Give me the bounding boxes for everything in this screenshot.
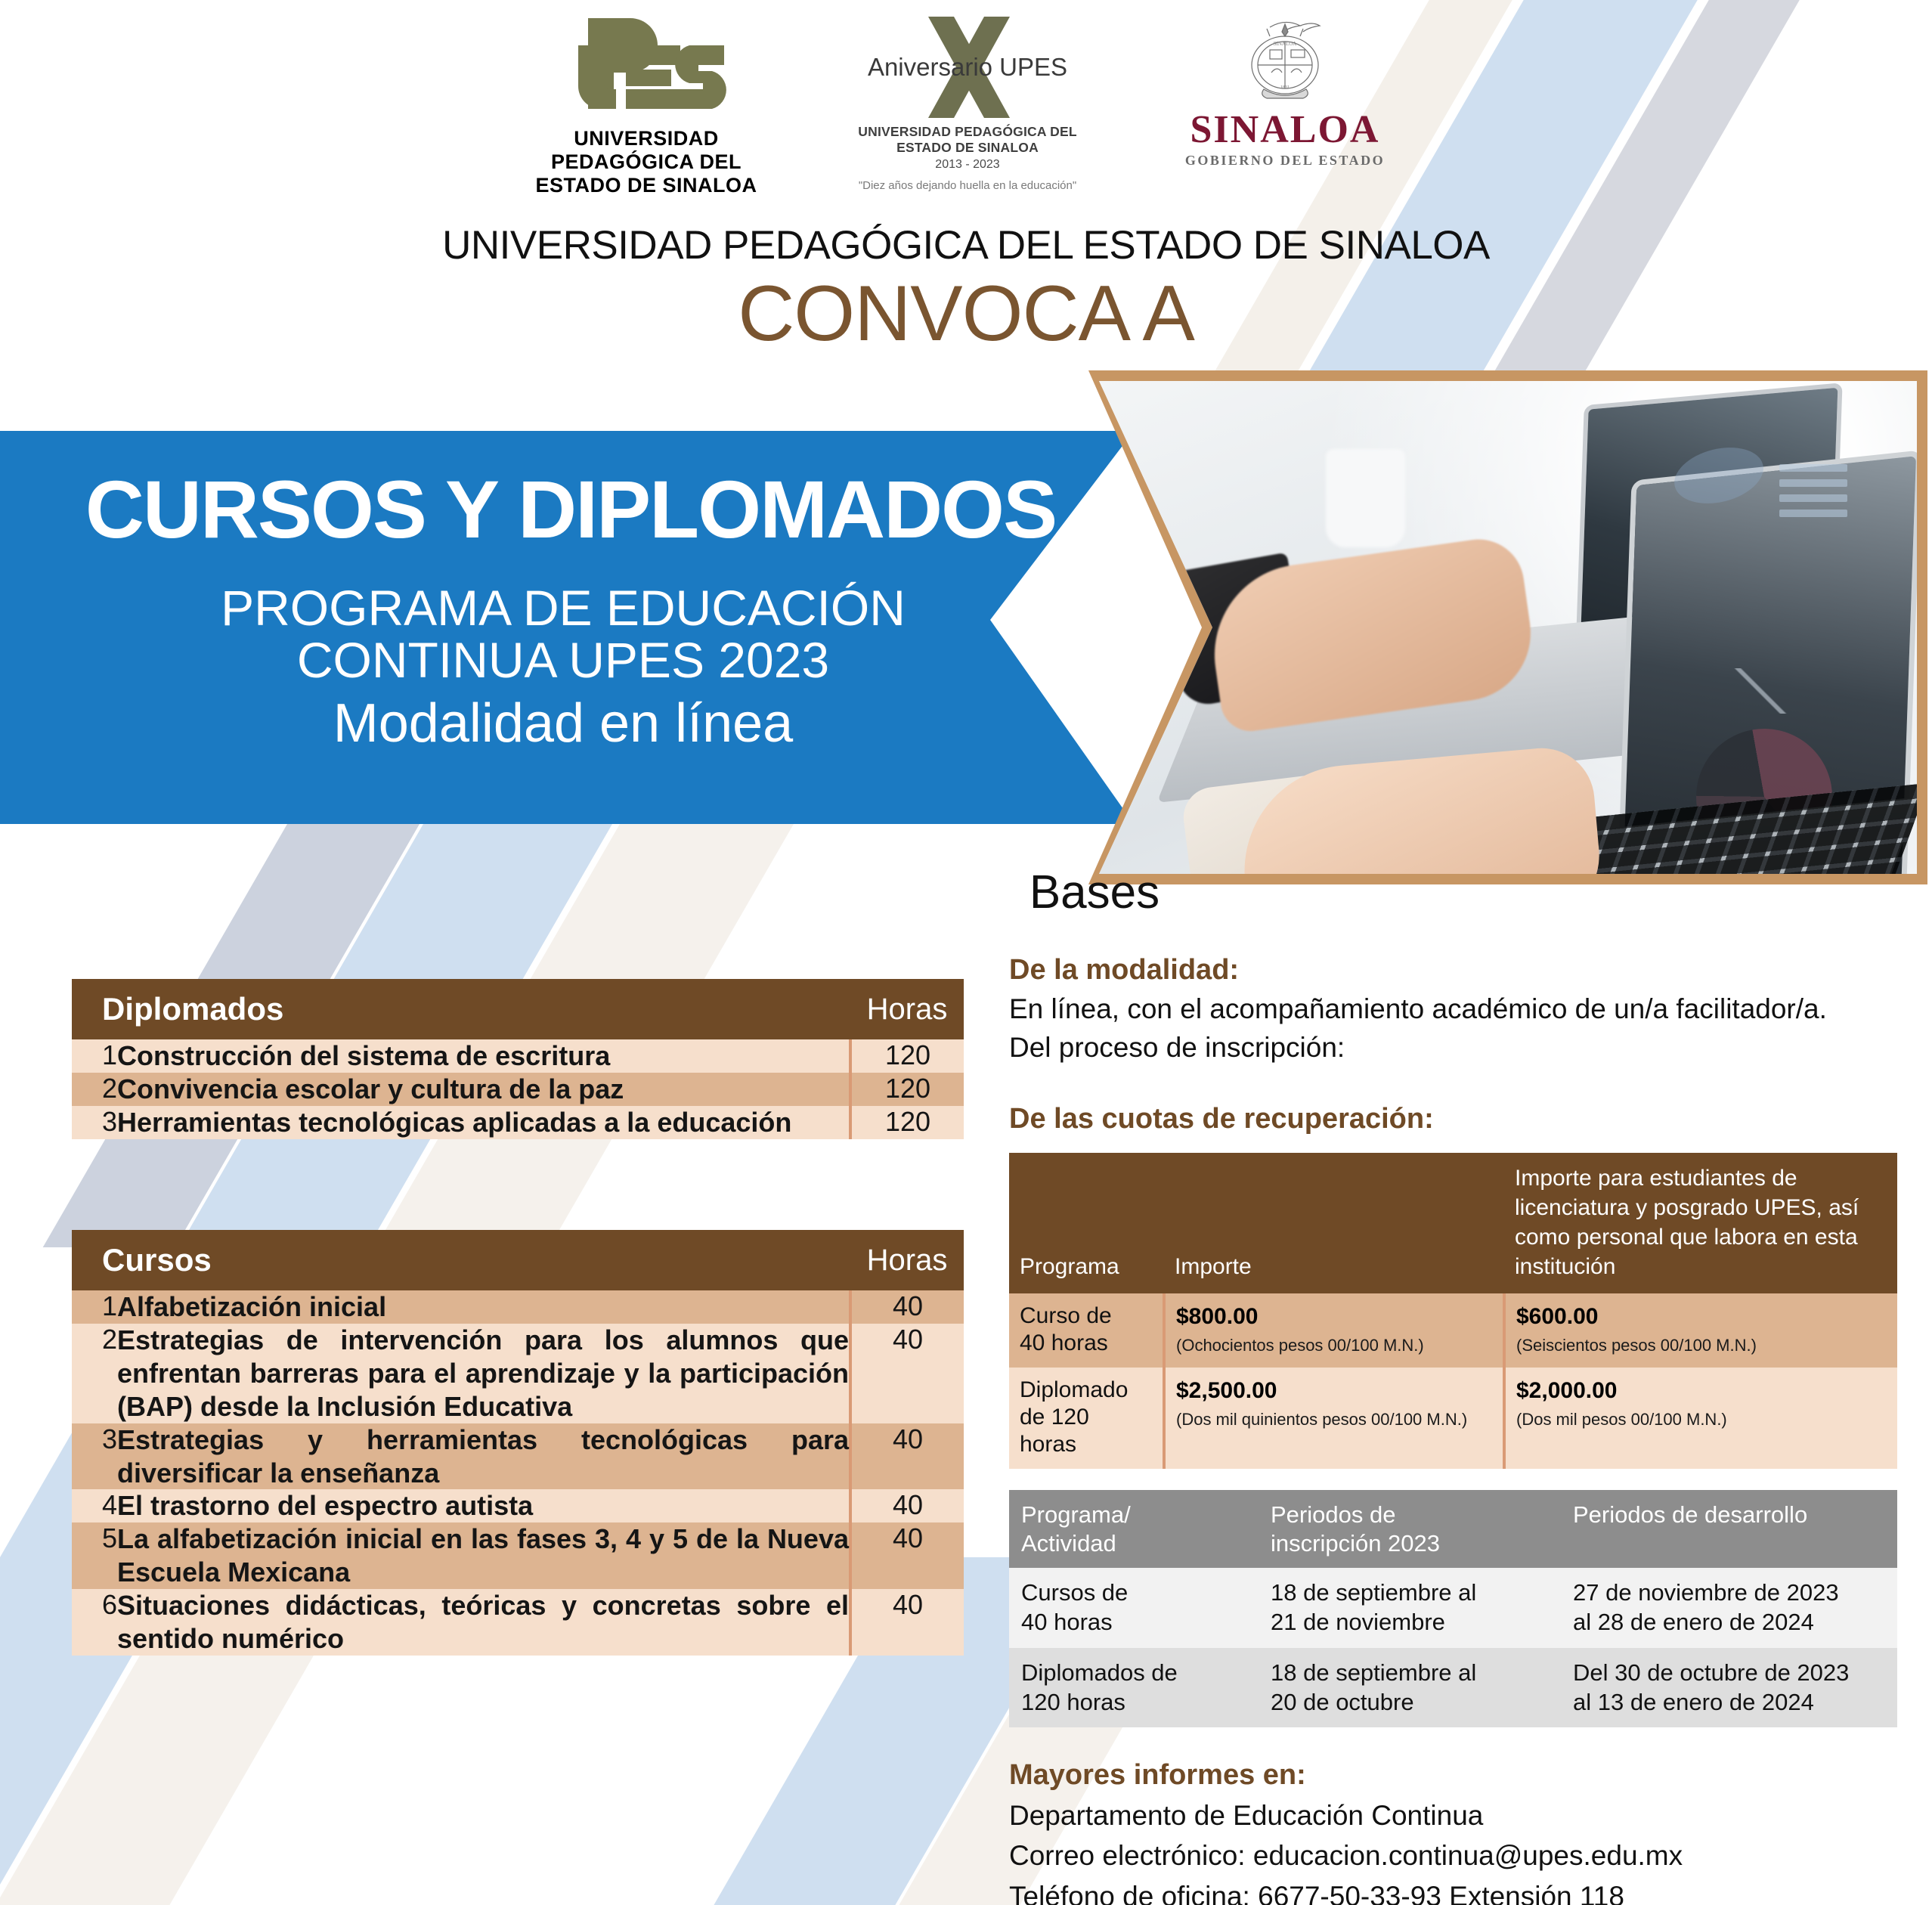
table-row: Curso de 40 horas $800.00 (Ochocientos p… <box>1009 1293 1897 1368</box>
row-hours: 40 <box>850 1324 964 1423</box>
fees-program-l2: de 120 horas <box>1020 1404 1152 1458</box>
bases-label: Bases <box>772 866 1160 918</box>
periods-col-inscripcion: Periodos de inscripción 2023 <box>1259 1490 1561 1569</box>
banner-modality: Modalidad en línea <box>136 695 990 753</box>
periods-development-l1: 27 de noviembre de 2023 <box>1573 1578 1885 1608</box>
fees-amount-upes-cell: $600.00 (Seiscientos pesos 00/100 M.N.) <box>1504 1293 1897 1368</box>
photo-cup <box>1326 449 1405 547</box>
laptop-photo <box>1099 381 1917 874</box>
anniversary-logo: Aniversario UPES UNIVERSIDAD PEDAGÓGICA … <box>839 11 1096 192</box>
table-row: Cursos de 40 horas 18 de septiembre al 2… <box>1009 1568 1897 1648</box>
anniversary-years: 2013 - 2023 <box>839 158 1096 172</box>
anniversary-quote: "Diez años dejando huella en la educació… <box>839 179 1096 192</box>
fees-amount: $2,500.00 <box>1176 1377 1492 1405</box>
row-number: 1 <box>72 1290 117 1324</box>
cursos-table: Cursos Horas 1 Alfabetización inicial 40… <box>72 1230 964 1656</box>
blue-banner: CURSOS Y DIPLOMADOS PROGRAMA DE EDUCACIÓ… <box>0 431 1134 824</box>
upes-logo-line3: ESTADO DE SINALOA <box>522 174 771 197</box>
row-number: 3 <box>72 1423 117 1490</box>
fees-program-l2: 40 horas <box>1020 1330 1152 1357</box>
modality-heading: De la modalidad: <box>1009 951 1927 990</box>
fees-col-programa: Programa <box>1009 1153 1164 1293</box>
banner-subtitle: PROGRAMA DE EDUCACIÓN CONTINUA UPES 2023 <box>136 582 990 687</box>
fees-table: Programa Importe Importe para estudiante… <box>1009 1153 1897 1469</box>
periods-development-l2: al 13 de enero de 2024 <box>1573 1688 1885 1718</box>
table-row: Diplomado de 120 horas $2,500.00 (Dos mi… <box>1009 1368 1897 1469</box>
diplomados-table: Diplomados Horas 1 Construcción del sist… <box>72 979 964 1139</box>
fees-amount-cell: $800.00 (Ochocientos pesos 00/100 M.N.) <box>1164 1293 1504 1368</box>
fees-amount-cell: $2,500.00 (Dos mil quinientos pesos 00/1… <box>1164 1368 1504 1469</box>
table-row: 3 Herramientas tecnológicas aplicadas a … <box>72 1106 964 1139</box>
fees-program-l1: Curso de <box>1020 1303 1152 1330</box>
university-title: UNIVERSIDAD PEDAGÓGICA DEL ESTADO DE SIN… <box>0 222 1932 268</box>
contact-office-phone[interactable]: Teléfono de oficina: 6677-50-33-93 Exten… <box>1009 1876 1927 1905</box>
fees-heading: De las cuotas de recuperación: <box>1009 1100 1927 1138</box>
fees-program: Diplomado de 120 horas <box>1009 1368 1164 1469</box>
row-name: Herramientas tecnológicas aplicadas a la… <box>117 1106 850 1139</box>
banner-title: CURSOS Y DIPLOMADOS <box>45 469 1096 550</box>
svg-text:1831: 1831 <box>1280 85 1290 90</box>
fees-program-l1: Diplomado <box>1020 1377 1152 1404</box>
diplomados-header-title: Diplomados <box>72 979 850 1039</box>
table-row: 4 El trastorno del espectro autista 40 <box>72 1489 964 1522</box>
periods-col-desarrollo: Periodos de desarrollo <box>1561 1490 1897 1569</box>
fees-col-importe-upes: Importe para estudiantes de licenciatura… <box>1504 1153 1897 1293</box>
periods-col-programa-l2: Actividad <box>1021 1529 1246 1558</box>
modality-line2: Del proceso de inscripción: <box>1009 1028 1927 1067</box>
fees-amount-upes: $600.00 <box>1516 1303 1887 1331</box>
row-name: Estrategias y herramientas tecnológicas … <box>117 1423 850 1490</box>
upes-logo: UNIVERSIDAD PEDAGÓGICA DEL ESTADO DE SIN… <box>522 14 771 197</box>
cursos-table-header: Cursos Horas <box>72 1230 964 1290</box>
logo-bar: UNIVERSIDAD PEDAGÓGICA DEL ESTADO DE SIN… <box>0 0 1932 219</box>
anniversary-sub2: ESTADO DE SINALOA <box>839 140 1096 156</box>
fees-amount-upes-cell: $2,000.00 (Dos mil pesos 00/100 M.N.) <box>1504 1368 1897 1469</box>
row-number: 3 <box>72 1106 117 1139</box>
poster-root: UNIVERSIDAD PEDAGÓGICA DEL ESTADO DE SIN… <box>0 0 1932 1905</box>
row-hours: 40 <box>850 1522 964 1589</box>
row-number: 2 <box>72 1073 117 1106</box>
modality-line1: En línea, con el acompañamiento académic… <box>1009 990 1927 1028</box>
table-row: Diplomados de 120 horas 18 de septiembre… <box>1009 1648 1897 1728</box>
table-row: 5 La alfabetización inicial en las fases… <box>72 1522 964 1589</box>
periods-program-l1: Cursos de <box>1021 1578 1246 1608</box>
photo-chart-bars <box>1779 464 1847 532</box>
upes-logo-line1: UNIVERSIDAD <box>522 127 771 150</box>
sinaloa-coat-of-arms-icon: SINALOA 1831 <box>1164 14 1406 110</box>
row-name: Construcción del sistema de escritura <box>117 1039 850 1073</box>
row-number: 6 <box>72 1589 117 1656</box>
row-name: Situaciones didácticas, teóricas y concr… <box>117 1589 850 1656</box>
row-hours: 120 <box>850 1106 964 1139</box>
periods-program-l2: 40 horas <box>1021 1608 1246 1637</box>
periods-inscription-l1: 18 de septiembre al <box>1271 1578 1549 1608</box>
x-anniversary-mark: Aniversario UPES <box>839 11 1096 124</box>
convoca-title: CONVOCA A <box>0 273 1932 355</box>
bases-heading: Bases <box>0 866 1932 919</box>
upes-logo-mark <box>522 14 771 127</box>
fees-amount-upes: $2,000.00 <box>1516 1377 1887 1405</box>
periods-development: 27 de noviembre de 2023 al 28 de enero d… <box>1561 1568 1897 1648</box>
periods-inscription-l1: 18 de septiembre al <box>1271 1659 1549 1688</box>
anniversary-word: Aniversario UPES <box>839 53 1096 82</box>
fees-amount-upes-words: (Seiscientos pesos 00/100 M.N.) <box>1516 1335 1887 1356</box>
periods-program: Diplomados de 120 horas <box>1009 1648 1259 1728</box>
periods-program-l2: 120 horas <box>1021 1688 1246 1718</box>
row-name: La alfabetización inicial en las fases 3… <box>117 1522 850 1589</box>
periods-program: Cursos de 40 horas <box>1009 1568 1259 1648</box>
row-name: Alfabetización inicial <box>117 1290 850 1324</box>
sinaloa-logo: SINALOA 1831 SINALOA GOBIERNO DEL ESTADO <box>1164 14 1406 169</box>
row-hours: 120 <box>850 1073 964 1106</box>
table-row: 2 Estrategias de intervención para los a… <box>72 1324 964 1423</box>
banner-subtitle-line2: CONTINUA UPES 2023 <box>136 634 990 686</box>
photo-chart-line <box>1681 668 1840 714</box>
row-hours: 40 <box>850 1489 964 1522</box>
periods-table: Programa/ Actividad Periodos de inscripc… <box>1009 1490 1897 1728</box>
spacer <box>1009 1067 1927 1100</box>
row-hours: 40 <box>850 1589 964 1656</box>
fees-amount-words: (Dos mil quinientos pesos 00/100 M.N.) <box>1176 1409 1492 1430</box>
periods-inscription: 18 de septiembre al 21 de noviembre <box>1259 1568 1561 1648</box>
fees-amount-words: (Ochocientos pesos 00/100 M.N.) <box>1176 1335 1492 1356</box>
periods-col-programa-l1: Programa/ <box>1021 1501 1246 1529</box>
row-hours: 120 <box>850 1039 964 1073</box>
periods-program-l1: Diplomados de <box>1021 1659 1246 1688</box>
cursos-header-hours: Horas <box>850 1230 964 1290</box>
periods-col-inscripcion-l2: inscripción 2023 <box>1271 1529 1549 1558</box>
periods-col-inscripcion-l1: Periodos de <box>1271 1501 1549 1529</box>
contact-department: Departamento de Educación Continua <box>1009 1795 1927 1836</box>
banner-subtitle-line1: PROGRAMA DE EDUCACIÓN <box>136 582 990 634</box>
row-hours: 40 <box>850 1423 964 1490</box>
fees-amount: $800.00 <box>1176 1303 1492 1331</box>
contact-heading: Mayores informes en: <box>1009 1756 1927 1795</box>
table-row: 1 Alfabetización inicial 40 <box>72 1290 964 1324</box>
row-number: 5 <box>72 1522 117 1589</box>
fees-table-header: Programa Importe Importe para estudiante… <box>1009 1153 1897 1293</box>
right-column: De la modalidad: En línea, con el acompa… <box>1009 951 1927 1905</box>
fees-col-importe: Importe <box>1164 1153 1504 1293</box>
periods-development-l1: Del 30 de octubre de 2023 <box>1573 1659 1885 1688</box>
periods-col-programa: Programa/ Actividad <box>1009 1490 1259 1569</box>
table-row: 6 Situaciones didácticas, teóricas y con… <box>72 1589 964 1656</box>
contact-email[interactable]: Correo electrónico: educacion.continua@u… <box>1009 1835 1927 1876</box>
table-row: 2 Convivencia escolar y cultura de la pa… <box>72 1073 964 1106</box>
contact-section: Mayores informes en: Departamento de Edu… <box>1009 1756 1927 1905</box>
row-name: Convivencia escolar y cultura de la paz <box>117 1073 850 1106</box>
svg-text:SINALOA: SINALOA <box>1274 41 1297 47</box>
diplomados-header-hours: Horas <box>850 979 964 1039</box>
row-hours: 40 <box>850 1290 964 1324</box>
periods-development: Del 30 de octubre de 2023 al 13 de enero… <box>1561 1648 1897 1728</box>
periods-inscription: 18 de septiembre al 20 de octubre <box>1259 1648 1561 1728</box>
cursos-header-title: Cursos <box>72 1230 850 1290</box>
sinaloa-subtitle: GOBIERNO DEL ESTADO <box>1164 153 1406 169</box>
row-name: El trastorno del espectro autista <box>117 1489 850 1522</box>
periods-table-header: Programa/ Actividad Periodos de inscripc… <box>1009 1490 1897 1569</box>
row-number: 4 <box>72 1489 117 1522</box>
table-row: 3 Estrategias y herramientas tecnológica… <box>72 1423 964 1490</box>
periods-development-l2: al 28 de enero de 2024 <box>1573 1608 1885 1637</box>
row-number: 2 <box>72 1324 117 1423</box>
table-row: 1 Construcción del sistema de escritura … <box>72 1039 964 1073</box>
sinaloa-wordmark: SINALOA <box>1164 110 1406 150</box>
anniversary-sub1: UNIVERSIDAD PEDAGÓGICA DEL <box>839 124 1096 140</box>
fees-program: Curso de 40 horas <box>1009 1293 1164 1368</box>
row-name: Estrategias de intervención para los alu… <box>117 1324 850 1423</box>
periods-inscription-l2: 21 de noviembre <box>1271 1608 1549 1637</box>
diplomados-table-header: Diplomados Horas <box>72 979 964 1039</box>
upes-logo-line2: PEDAGÓGICA DEL <box>522 150 771 174</box>
periods-inscription-l2: 20 de octubre <box>1271 1688 1549 1718</box>
row-number: 1 <box>72 1039 117 1073</box>
laptop-photo-frame <box>1088 370 1927 884</box>
fees-amount-upes-words: (Dos mil pesos 00/100 M.N.) <box>1516 1409 1887 1430</box>
